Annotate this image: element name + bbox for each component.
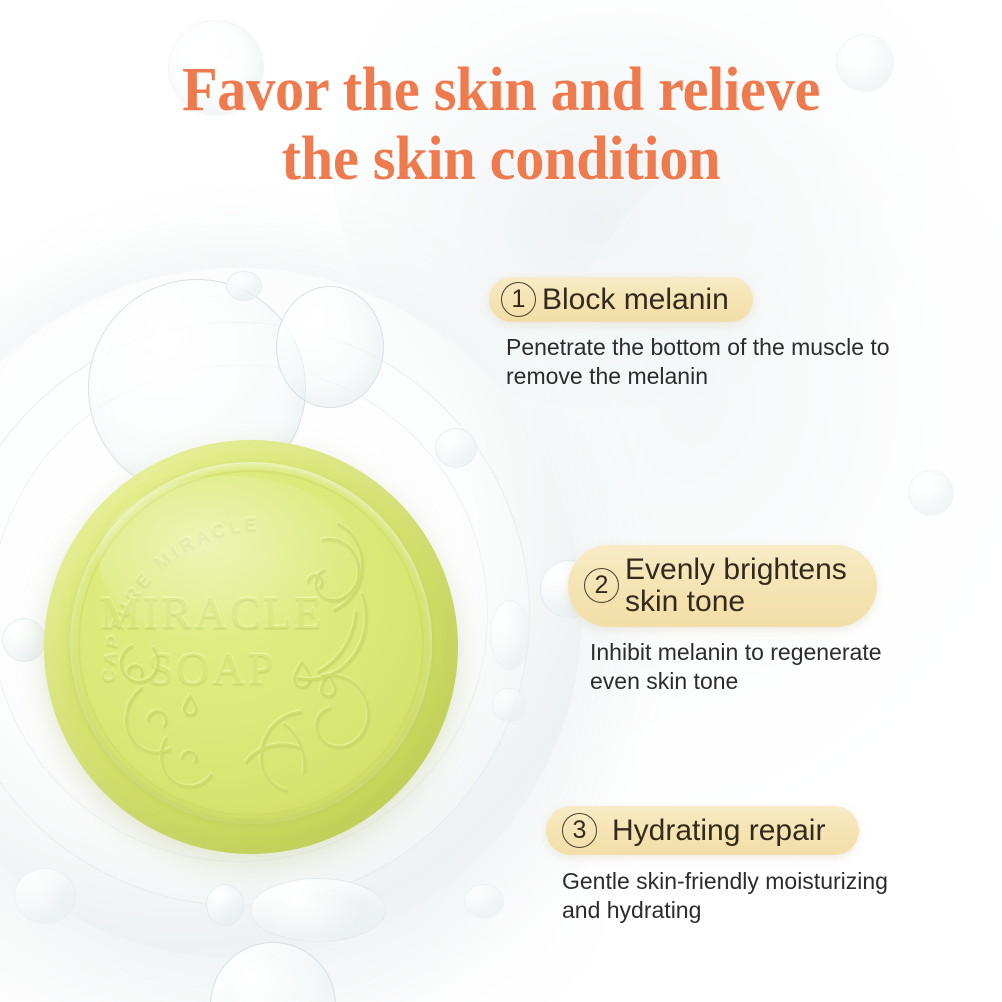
benefit-3-description: Gentle skin-friendly moisturizing and hy…	[562, 867, 888, 925]
bubble-small-upper-left	[226, 271, 262, 301]
benefit-1-description: Penetrate the bottom of the muscle to re…	[506, 333, 890, 391]
soap-wordmark: MIRACLE SOAP	[100, 587, 325, 694]
svg-text:MIRACLE: MIRACLE	[100, 587, 325, 638]
benefit-2-description: Inhibit melanin to regenerate even skin …	[590, 638, 882, 696]
bubble-dish-left	[2, 618, 46, 662]
soap-bar-rim: CAPTURE MIRACLE MIRACLE SOAP	[70, 462, 432, 824]
benefit-callout-3: 3 Hydrating repair Gentle skin-friendly …	[546, 806, 888, 925]
bubble-bottom-far-right	[464, 884, 504, 918]
benefit-3-title: Hydrating repair	[612, 815, 825, 847]
headline-line-1: Favor the skin and relieve	[30, 56, 972, 125]
soap-emboss-artwork: CAPTURE MIRACLE MIRACLE SOAP	[70, 462, 432, 824]
benefit-2-number-badge: 2	[584, 568, 619, 603]
svg-text:SOAP: SOAP	[148, 643, 276, 694]
benefit-3-number-badge: 3	[562, 813, 597, 848]
benefit-1-pill: 1 Block melanin	[489, 277, 753, 322]
soap-bar-face: CAPTURE MIRACLE MIRACLE SOAP	[70, 462, 432, 824]
page-title: Favor the skin and relieve the skin cond…	[0, 56, 1002, 195]
miracle-soap-bar: CAPTURE MIRACLE MIRACLE SOAP	[44, 440, 458, 854]
bubble-bottom-left	[206, 884, 244, 926]
bubble-bottom-center	[210, 942, 336, 1002]
benefit-2-pill: 2 Evenly brightens skin tone	[568, 545, 877, 627]
bubble-medium-upper-left	[276, 286, 384, 408]
benefit-1-number-badge: 1	[501, 282, 536, 317]
bubble-dish-right-upper	[435, 428, 477, 468]
bubble-dish-right-lower	[492, 688, 526, 722]
product-infographic-poster: CAPTURE MIRACLE MIRACLE SOAP	[0, 0, 1002, 1002]
benefit-callout-1: 1 Block melanin Penetrate the bottom of …	[489, 277, 890, 391]
benefit-callout-2: 2 Evenly brightens skin tone Inhibit mel…	[568, 545, 882, 696]
bubble-bottom-right	[250, 878, 386, 942]
bubble-right-mid	[908, 470, 954, 516]
bubble-dish-left-lower	[14, 868, 76, 924]
bubble-dish-right-low	[490, 600, 530, 670]
headline-line-2: the skin condition	[30, 125, 972, 194]
benefit-1-title: Block melanin	[542, 284, 729, 316]
benefit-2-title: Evenly brightens skin tone	[625, 554, 847, 618]
benefit-3-pill: 3 Hydrating repair	[546, 806, 859, 855]
